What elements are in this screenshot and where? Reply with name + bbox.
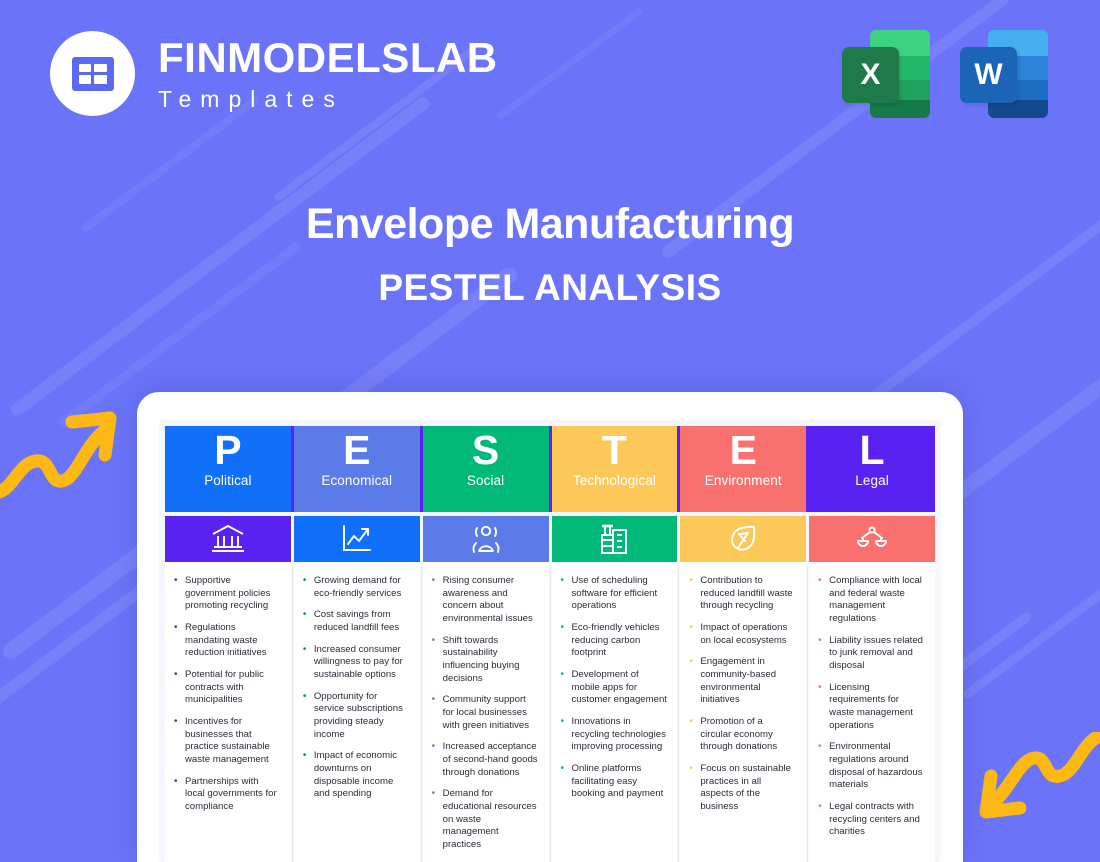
- pestel-header-political[interactable]: P Political: [165, 426, 291, 512]
- pestel-header-legal[interactable]: L Legal: [809, 426, 935, 512]
- list-item: Promotion of a circular economy through …: [686, 716, 796, 754]
- word-icon: W: [960, 30, 1048, 118]
- pestel-letter: P: [214, 430, 241, 472]
- pestel-letter: E: [730, 430, 757, 472]
- pestel-header-social[interactable]: S Social: [423, 426, 549, 512]
- pestel-label: Legal: [855, 473, 889, 488]
- squiggly-arrow-down-left-icon: [964, 732, 1100, 832]
- list-item: Impact of economic downturns on disposab…: [300, 750, 410, 801]
- logo-circle: [50, 31, 135, 116]
- page-header: FINMODELSLAB Templates X W: [0, 0, 1100, 150]
- list-item: Engagement in community-based environmen…: [686, 656, 796, 707]
- list-item: Shift towards sustainability influencing…: [429, 635, 539, 686]
- excel-icon-letter: X: [842, 47, 899, 103]
- list-item: Rising consumer awareness and concern ab…: [429, 575, 539, 626]
- tablet-screen: P Political E Economical S Social T Tech…: [159, 420, 941, 862]
- page-title: Envelope Manufacturing: [0, 200, 1100, 249]
- list-item: Potential for public contracts with muni…: [171, 669, 281, 707]
- scales-justice-icon: [809, 516, 935, 562]
- pestel-label: Technological: [573, 473, 656, 488]
- grid-squares-icon: [72, 57, 114, 91]
- bank-building-icon: [165, 516, 291, 562]
- pestel-label: Environment: [705, 473, 782, 488]
- page-subtitle: PESTEL ANALYSIS: [0, 268, 1100, 309]
- tablet-device-frame: P Political E Economical S Social T Tech…: [137, 392, 963, 862]
- list-item: Increased acceptance of second-hand good…: [429, 741, 539, 779]
- pestel-letter: S: [472, 430, 499, 472]
- pestel-icon-row: [165, 512, 935, 562]
- list-item: Environmental regulations around disposa…: [815, 741, 925, 792]
- squiggly-arrow-up-right-icon: [0, 405, 127, 505]
- factory-building-icon: [552, 516, 678, 562]
- pestel-content-technological: Use of scheduling software for efficient…: [552, 562, 678, 862]
- file-format-icons: X W: [842, 30, 1048, 118]
- list-item: Online platforms facilitating easy booki…: [558, 763, 668, 801]
- list-item: Increased consumer willingness to pay fo…: [300, 644, 410, 682]
- pestel-letter: E: [343, 430, 370, 472]
- brand-logo: FINMODELSLAB Templates: [50, 31, 498, 116]
- list-item: Legal contracts with recycling centers a…: [815, 801, 925, 839]
- list-item: Liability issues related to junk removal…: [815, 635, 925, 673]
- pestel-header-row: P Political E Economical S Social T Tech…: [165, 426, 935, 512]
- pestel-letter: L: [860, 430, 885, 472]
- pestel-header-economical[interactable]: E Economical: [294, 426, 420, 512]
- leaf-icon: [680, 516, 806, 562]
- people-group-icon: [423, 516, 549, 562]
- list-item: Community support for local businesses w…: [429, 694, 539, 732]
- list-item: Cost savings from reduced landfill fees: [300, 609, 410, 634]
- list-item: Incentives for businesses that practice …: [171, 716, 281, 767]
- list-item: Use of scheduling software for efficient…: [558, 575, 668, 613]
- list-item: Impact of operations on local ecosystems: [686, 622, 796, 647]
- pestel-label: Political: [204, 473, 251, 488]
- pestel-content-legal: Compliance with local and federal waste …: [809, 562, 935, 862]
- list-item: Innovations in recycling technologies im…: [558, 716, 668, 754]
- brand-name: FINMODELSLAB: [158, 37, 498, 79]
- list-item: Compliance with local and federal waste …: [815, 575, 925, 626]
- list-item: Development of mobile apps for customer …: [558, 669, 668, 707]
- list-item: Focus on sustainable practices in all as…: [686, 763, 796, 814]
- word-icon-letter: W: [960, 47, 1017, 103]
- list-item: Licensing requirements for waste managem…: [815, 682, 925, 733]
- list-item: Partnerships with local governments for …: [171, 776, 281, 814]
- list-item: Opportunity for service subscriptions pr…: [300, 691, 410, 742]
- pestel-content-economical: Growing demand for eco-friendly services…: [294, 562, 420, 862]
- excel-icon: X: [842, 30, 930, 118]
- pestel-content-political: Supportive government policies promoting…: [165, 562, 291, 862]
- pestel-header-technological[interactable]: T Technological: [552, 426, 678, 512]
- list-item: Growing demand for eco-friendly services: [300, 575, 410, 600]
- pestel-label: Economical: [321, 473, 392, 488]
- pestel-content-environment: Contribution to reduced landfill waste t…: [680, 562, 806, 862]
- pestel-content-row: Supportive government policies promoting…: [165, 562, 935, 862]
- pestel-label: Social: [467, 473, 504, 488]
- list-item: Eco-friendly vehicles reducing carbon fo…: [558, 622, 668, 660]
- list-item: Contribution to reduced landfill waste t…: [686, 575, 796, 613]
- list-item: Regulations mandating waste reduction in…: [171, 622, 281, 660]
- pestel-header-environment[interactable]: E Environment: [680, 426, 806, 512]
- line-chart-icon: [294, 516, 420, 562]
- list-item: Supportive government policies promoting…: [171, 575, 281, 613]
- brand-tagline: Templates: [158, 88, 498, 111]
- title-block: Envelope Manufacturing PESTEL ANALYSIS: [0, 200, 1100, 309]
- pestel-letter: T: [602, 430, 627, 472]
- pestel-content-social: Rising consumer awareness and concern ab…: [423, 562, 549, 862]
